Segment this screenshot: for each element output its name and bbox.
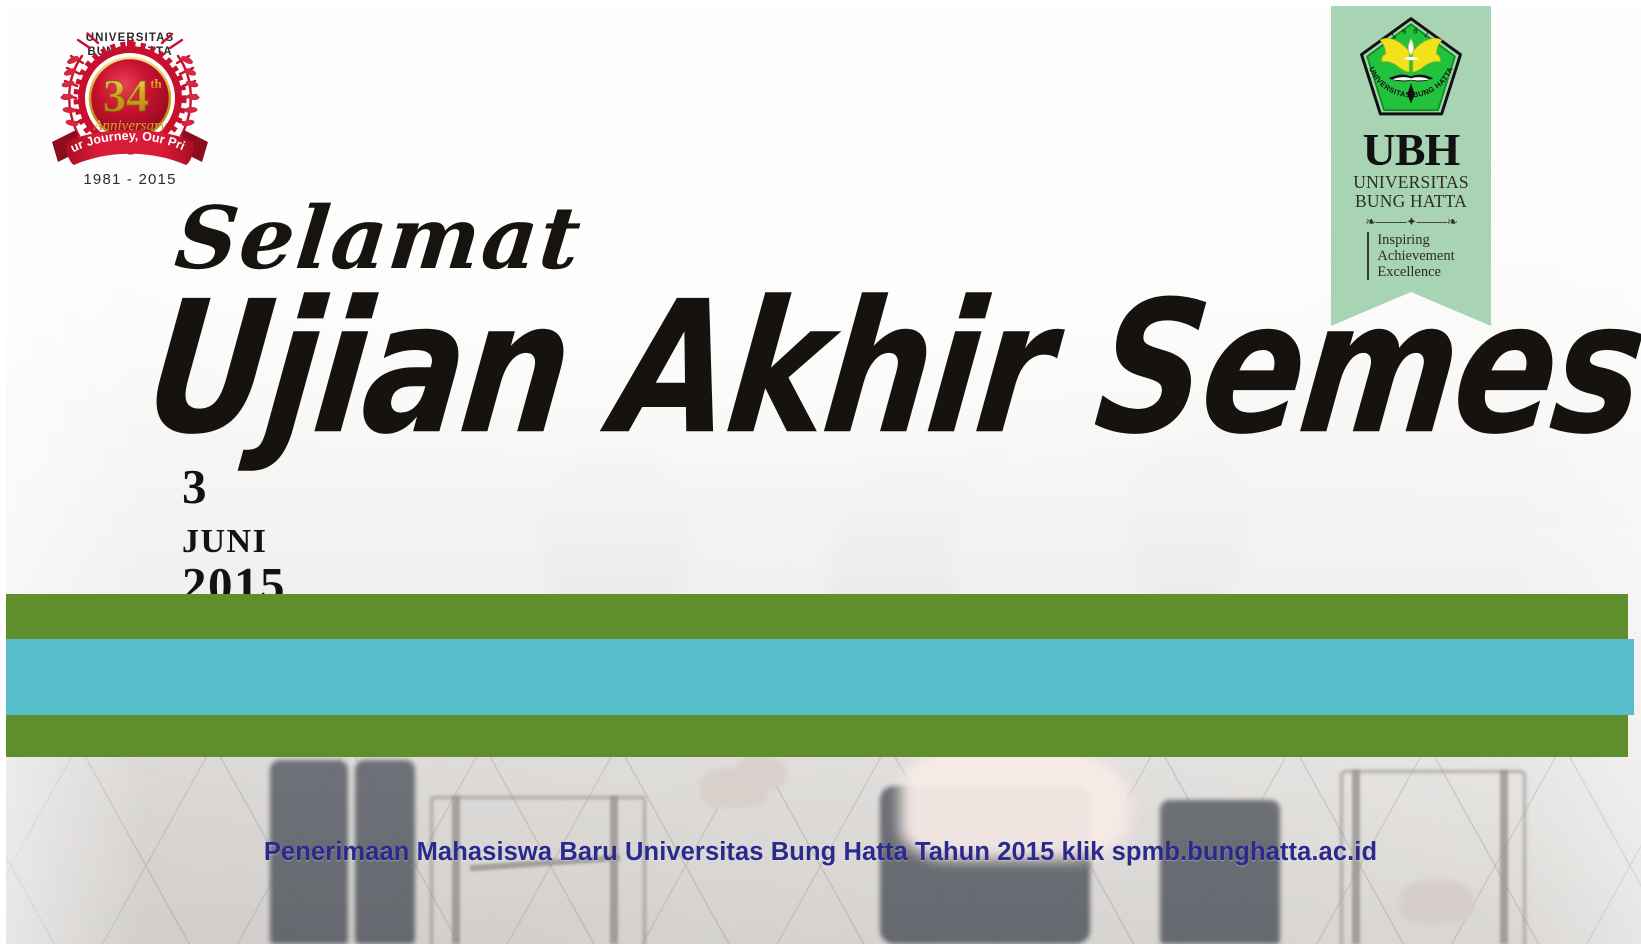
anniv-number: 34 [103, 70, 149, 121]
chair-leg [610, 796, 618, 944]
anniv-ordinal: th [150, 76, 162, 91]
admissions-note-text: Penerimaan Mahasiswa Baru Universitas Bu… [264, 838, 1377, 866]
ubh-tagline-line1: Inspiring [1377, 232, 1454, 248]
ubh-abbreviation: UBH [1339, 128, 1483, 172]
ubh-tagline-line2: Achievement [1377, 248, 1454, 264]
ubh-name-line2: BUNG HATTA [1339, 192, 1483, 211]
anniv-years: 1981 - 2015 [83, 171, 176, 188]
stripe-teal [0, 639, 1634, 715]
admissions-note: Penerimaan Mahasiswa Baru Universitas Bu… [0, 838, 1641, 867]
anniversary-logo: UNIVERSITAS BUNG HATTA [46, 18, 214, 190]
chair-leg [452, 796, 460, 944]
ubh-name-line1: UNIVERSITAS [1339, 173, 1483, 192]
stripe-green-bottom [5, 715, 1628, 757]
ubh-tagline: Inspiring Achievement Excellence [1367, 232, 1454, 281]
ubh-logo-banner: 1 9 8 1 UNIVERSITAS BUNG HATTA UBH UNIVE… [1331, 0, 1491, 292]
shoe [1400, 880, 1474, 924]
anniversary-seal-icon: UNIVERSITAS BUNG HATTA [46, 18, 214, 190]
ubh-divider-ornament: ❧⸻✦⸻❧ [1339, 215, 1483, 228]
stripe-green-top [5, 594, 1628, 639]
student-legs [1160, 800, 1280, 944]
ubh-exam-banner: UNIVERSITAS BUNG HATTA [0, 0, 1641, 944]
bung-hatta-crest-icon: 1 9 8 1 UNIVERSITAS BUNG HATTA [1355, 14, 1467, 126]
shoe [736, 756, 786, 790]
ubh-banner-panel: 1 9 8 1 UNIVERSITAS BUNG HATTA UBH UNIVE… [1331, 0, 1491, 292]
event-title-text: Ujian Akhir Semester [139, 280, 1360, 459]
ubh-tagline-line3: Excellence [1377, 264, 1454, 280]
